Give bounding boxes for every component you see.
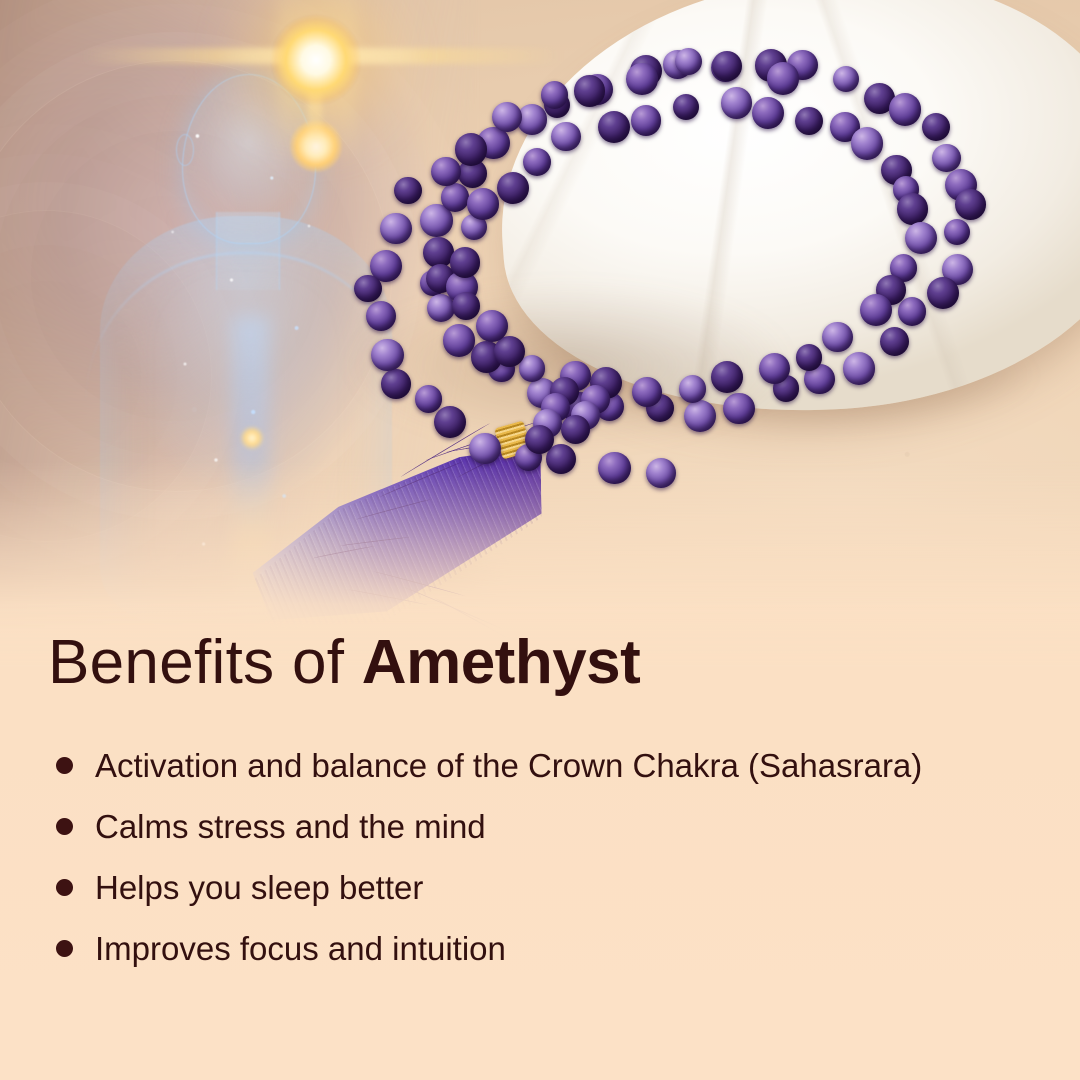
- mala-bead: [381, 369, 411, 399]
- bullet-dot-icon: [56, 879, 73, 896]
- mala-bead: [880, 327, 909, 356]
- mala-bead: [632, 377, 662, 407]
- page-title: Benefits of Amethyst: [48, 632, 640, 694]
- page-title-highlight: Amethyst: [362, 628, 641, 697]
- mala-bead: [944, 219, 970, 245]
- mala-bead: [443, 324, 475, 356]
- mala-bead: [598, 111, 630, 143]
- mala-bead: [366, 301, 396, 331]
- benefit-text: Activation and balance of the Crown Chak…: [95, 747, 922, 784]
- benefit-item: Calms stress and the mind: [48, 801, 1025, 853]
- mala-bead: [523, 148, 551, 176]
- mala-bead: [354, 275, 381, 302]
- benefit-item: Helps you sleep better: [48, 862, 1025, 914]
- mala-bead: [467, 188, 498, 219]
- mala-bead: [450, 247, 481, 278]
- mala-bead: [712, 51, 742, 81]
- bullet-dot-icon: [56, 940, 73, 957]
- mala-bead: [833, 66, 859, 92]
- mala-bead: [843, 352, 875, 384]
- mala-bead: [469, 433, 501, 465]
- mala-bead: [574, 75, 606, 107]
- mala-bead: [646, 458, 676, 488]
- mala-bead: [431, 157, 461, 187]
- mala-bead: [371, 339, 403, 371]
- mala-bead: [598, 452, 630, 484]
- mala-bead: [922, 113, 950, 141]
- mala-bead: [955, 189, 986, 220]
- mala-bead: [897, 193, 928, 224]
- mala-bead: [476, 310, 508, 342]
- mala-bead: [932, 144, 961, 173]
- mala-bead: [711, 361, 743, 393]
- mala-bead: [905, 222, 937, 254]
- mala-bead: [759, 353, 791, 385]
- mala-bead: [679, 375, 707, 403]
- mala-bead: [394, 177, 421, 204]
- benefits-list: Activation and balance of the Crown Chak…: [48, 740, 1032, 985]
- mala-bead: [492, 102, 522, 132]
- mala-bead: [822, 322, 852, 352]
- mala-bead: [452, 292, 480, 320]
- mala-bead: [675, 48, 702, 75]
- benefit-text: Improves focus and intuition: [95, 930, 506, 967]
- mala-bead: [455, 133, 487, 165]
- page-title-prefix: Benefits of: [48, 628, 344, 697]
- bullet-dot-icon: [56, 818, 73, 835]
- mala-bead: [767, 62, 799, 94]
- benefits-panel: Benefits of Amethyst Activation and bala…: [0, 600, 1080, 1080]
- mala-bead: [723, 393, 754, 424]
- mala-bead: [497, 172, 529, 204]
- mala-bead: [434, 406, 466, 438]
- hero-photo: [0, 0, 1080, 640]
- mala-bead: [752, 97, 784, 129]
- benefit-text: Calms stress and the mind: [95, 808, 486, 845]
- mala-bead: [525, 425, 554, 454]
- mala-bead: [851, 127, 883, 159]
- mala-bead: [860, 294, 892, 326]
- mala-bead: [441, 183, 470, 212]
- amethyst-benefits-card: Benefits of Amethyst Activation and bala…: [0, 0, 1080, 1080]
- mala-bead: [626, 63, 658, 95]
- mala-bead: [795, 107, 823, 135]
- mala-bead: [415, 385, 442, 412]
- bullet-dot-icon: [56, 757, 73, 774]
- mala-bead: [721, 87, 752, 118]
- mala-bead: [551, 122, 580, 151]
- mala-bead: [631, 105, 661, 135]
- mala-bead: [541, 81, 568, 108]
- mala-bead: [889, 93, 921, 125]
- mala-bead: [561, 415, 590, 444]
- mala-bead: [927, 277, 959, 309]
- benefit-item: Activation and balance of the Crown Chak…: [48, 740, 1025, 792]
- mala-bead: [898, 297, 926, 325]
- mala-bead: [380, 213, 412, 245]
- benefit-text: Helps you sleep better: [95, 869, 423, 906]
- benefit-item: Improves focus and intuition: [48, 923, 1025, 975]
- mala-bead: [673, 94, 700, 121]
- mala-bead: [684, 400, 716, 432]
